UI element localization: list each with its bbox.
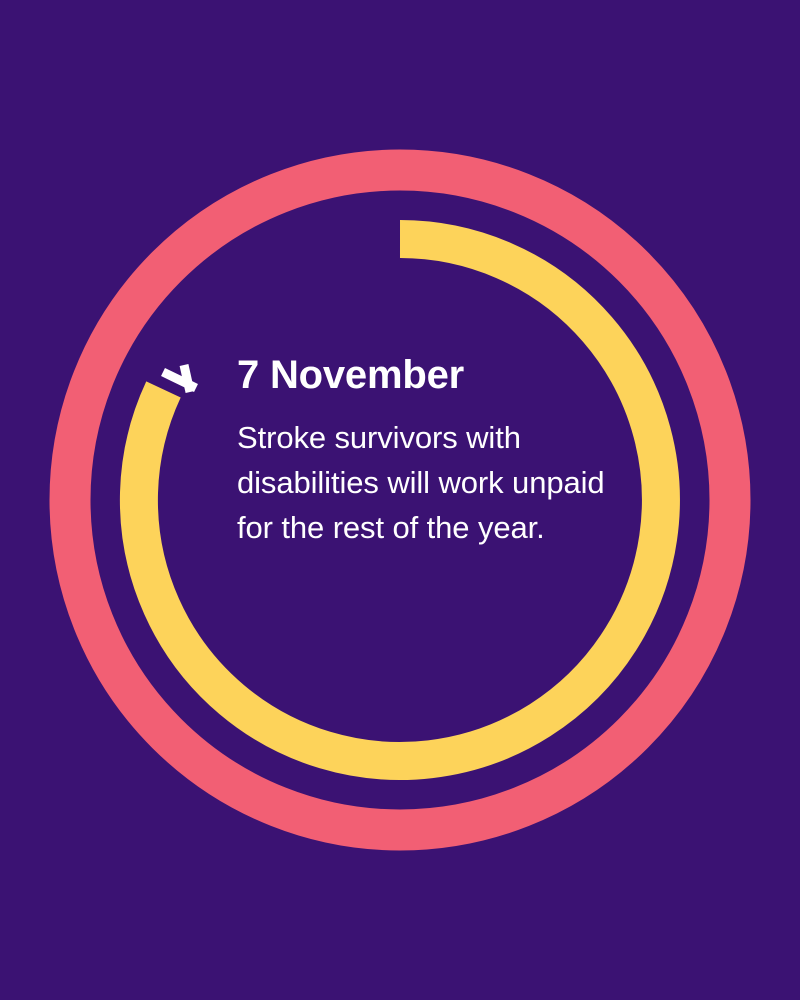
body-copy: Stroke survivors with disabilities will … [237,398,627,550]
clock-hand-marker [163,365,196,392]
marker-cap [184,365,190,392]
poster-canvas: 7 November Stroke survivors with disabil… [0,0,800,1000]
page-title: 7 November [237,352,627,398]
text-block: 7 November Stroke survivors with disabil… [237,352,627,550]
